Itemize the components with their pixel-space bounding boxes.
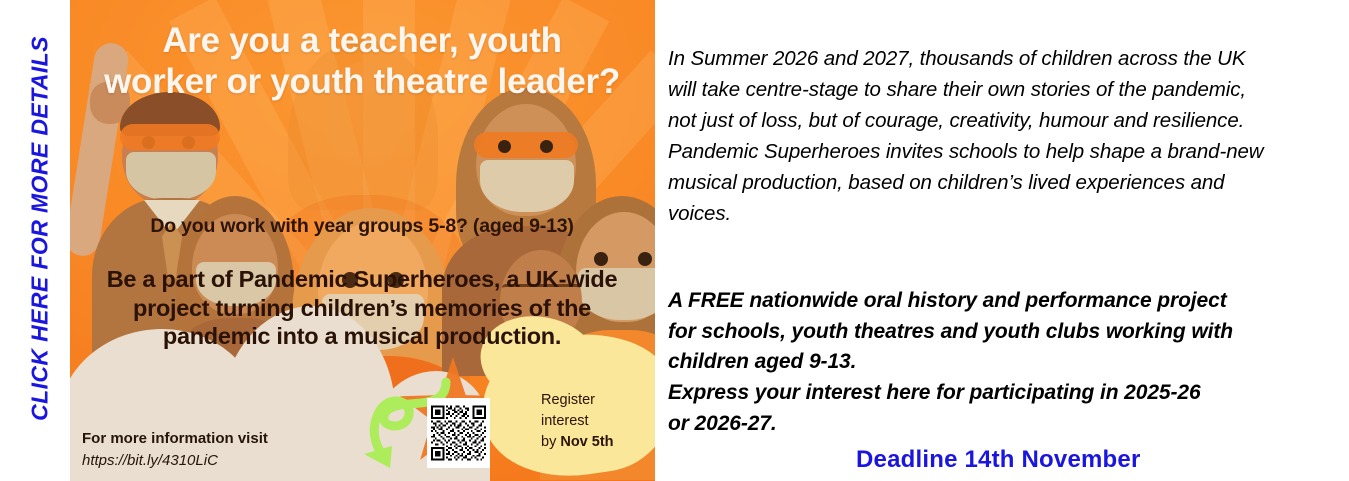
description-column: In Summer 2026 and 2027, thousands of ch…: [668, 0, 1333, 481]
poster-headline: Are you a teacher, youth worker or youth…: [102, 20, 622, 103]
qr-code[interactable]: [427, 398, 490, 468]
child-figure-left-eyemask: [120, 124, 220, 150]
more-information-url[interactable]: https://bit.ly/4310LiC: [82, 450, 268, 471]
child-figure-farright-eye: [594, 252, 608, 266]
more-information-label: For more information visit: [82, 428, 268, 449]
click-here-cta-rail[interactable]: CLICK HERE FOR MORE DETAILS: [0, 0, 70, 481]
poster-subheadline: Do you work with year groups 5-8? (aged …: [102, 215, 622, 238]
highlight-line-4: Express your interest here for participa…: [668, 378, 1318, 409]
highlight-line-1: A FREE nationwide oral history and perfo…: [668, 286, 1318, 317]
click-here-cta-label[interactable]: CLICK HERE FOR MORE DETAILS: [27, 14, 54, 444]
poster-more-information[interactable]: For more information visit https://bit.l…: [82, 428, 268, 471]
register-line-3: by Nov 5th: [541, 432, 649, 453]
child-figure-right-eye: [498, 140, 511, 153]
highlight-line-5: or 2026-27.: [668, 409, 1318, 440]
highlight-paragraph: A FREE nationwide oral history and perfo…: [668, 286, 1318, 439]
child-figure-right-eyemask: [474, 132, 578, 158]
register-line-2: interest: [541, 411, 649, 432]
promo-page: CLICK HERE FOR MORE DETAILS: [0, 0, 1349, 481]
deadline-label: Deadline 14th November: [856, 446, 1141, 474]
highlight-line-3: children aged 9-13.: [668, 347, 1318, 378]
child-figure-right-eye: [540, 140, 553, 153]
register-interest-note: Register interest by Nov 5th: [541, 390, 649, 453]
register-deadline-date: Nov 5th: [560, 434, 613, 450]
poster-body-text: Be a part of Pandemic Superheroes, a UK-…: [86, 265, 638, 351]
highlight-line-2: for schools, youth theatres and youth cl…: [668, 317, 1318, 348]
intro-paragraph: In Summer 2026 and 2027, thousands of ch…: [668, 43, 1268, 230]
pandemic-superheroes-poster[interactable]: Are you a teacher, youth worker or youth…: [70, 0, 655, 481]
register-by-prefix: by: [541, 434, 560, 450]
child-figure-farright-eye: [638, 252, 652, 266]
register-line-1: Register: [541, 390, 649, 411]
